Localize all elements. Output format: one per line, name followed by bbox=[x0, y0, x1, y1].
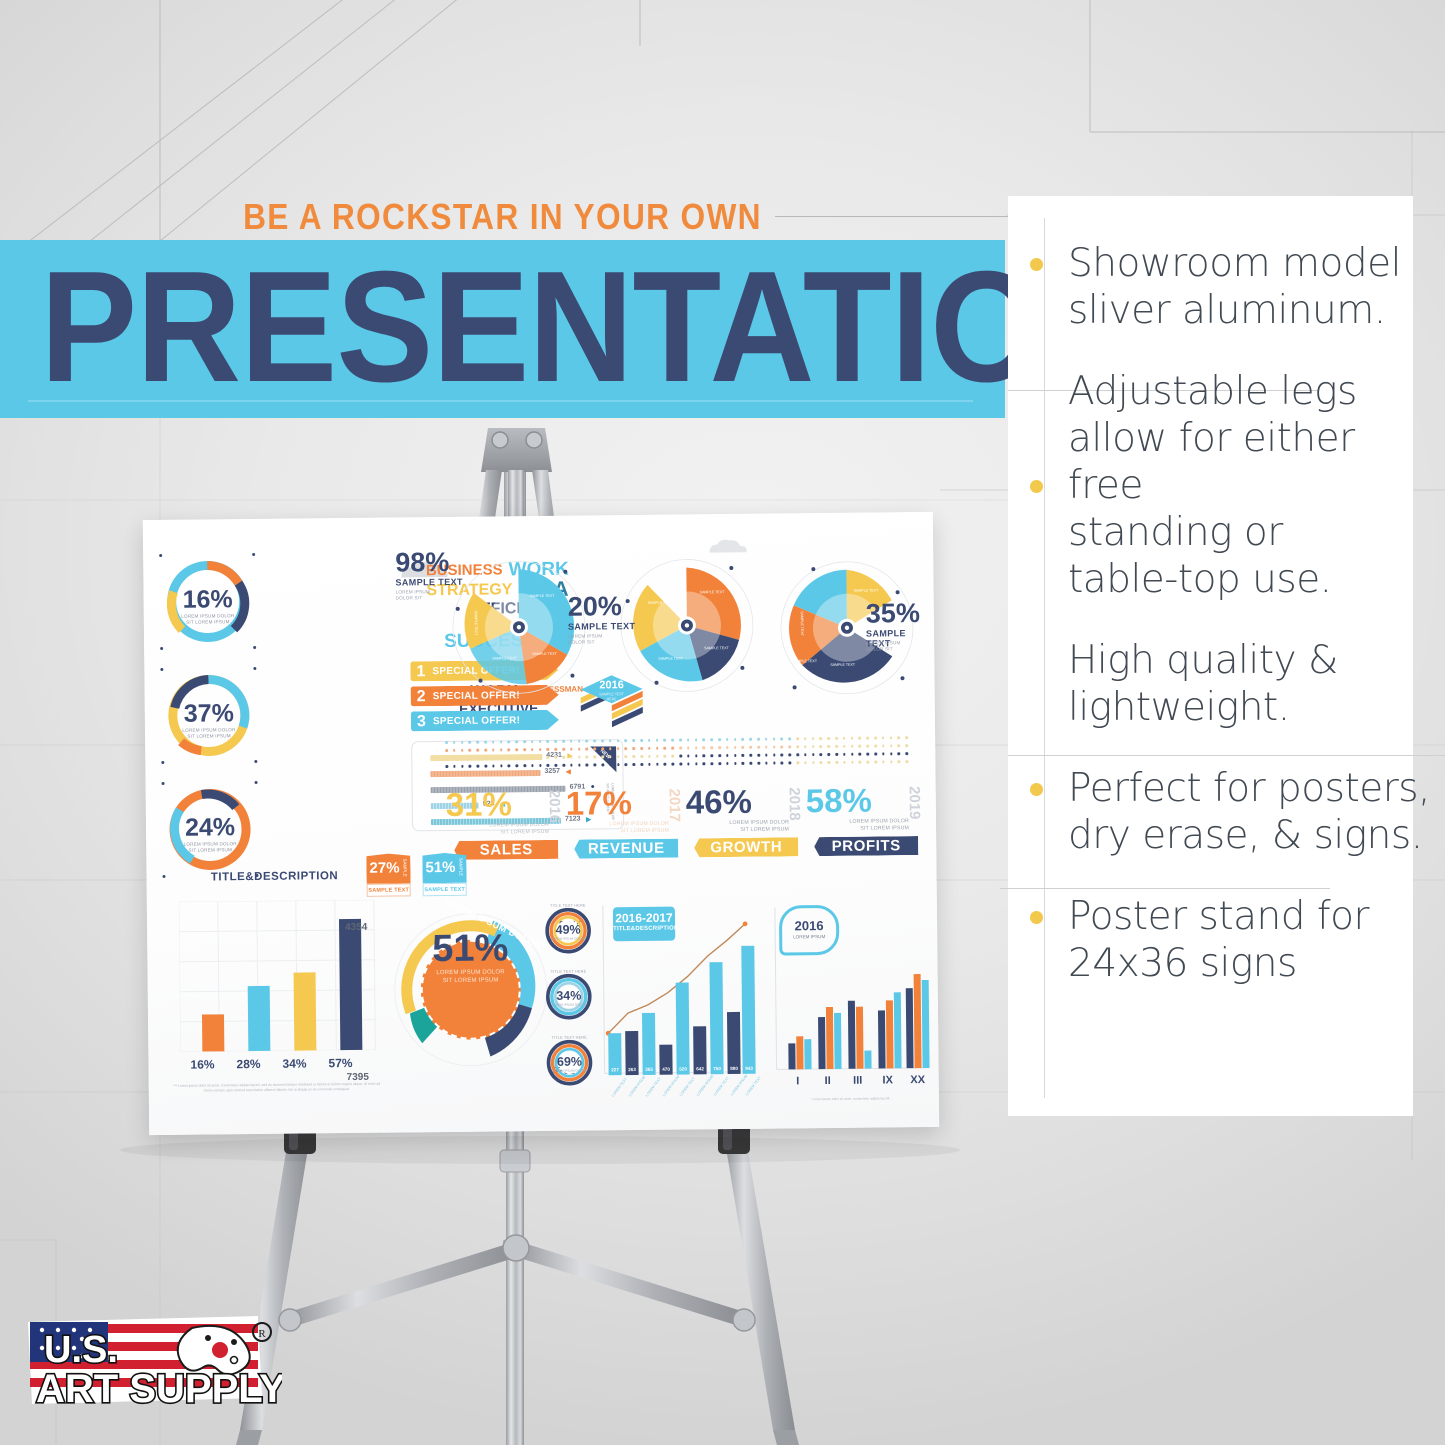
bar bbox=[796, 1036, 803, 1069]
kpi-sales: 31% 2016 LOREM IPSUM DOLOR SIT LOREM IPS… bbox=[446, 788, 572, 860]
kpi-tag: SALES bbox=[480, 841, 533, 859]
kpi-tag: PROFITS bbox=[832, 837, 901, 855]
badge-sub: LOREM IPSUM DOLOR bbox=[546, 1002, 592, 1006]
bubble-sub: LOREM IPSUM bbox=[782, 934, 836, 940]
column-chart-title-description: TITLE&DESCRIPTION 16% 28% bbox=[164, 870, 386, 1102]
badge-value: 69% bbox=[546, 1054, 592, 1068]
badge-foot: SAMPLE TEXT bbox=[367, 883, 411, 896]
bar: 520 bbox=[676, 982, 690, 1074]
year-callout: 2016-2017 TITLE&DESCRIPTION bbox=[613, 907, 675, 942]
x-tick-label: III bbox=[845, 1075, 871, 1087]
pie-value: 35% bbox=[866, 600, 920, 627]
donut-value: 16% bbox=[159, 585, 255, 615]
pie-slice-label: SAMPLE TEXT bbox=[700, 590, 725, 594]
offer-number: 2 bbox=[417, 688, 426, 706]
badge-value: 34% bbox=[546, 988, 592, 1002]
badge-foot: SAMPLE TEXT bbox=[423, 883, 467, 896]
chart-title: TITLE&DESCRIPTION bbox=[164, 870, 384, 884]
kpi-value: 31% bbox=[446, 785, 512, 823]
x-tick-label: I bbox=[785, 1075, 811, 1087]
pie-slice-label: SAMPLE TEXT bbox=[704, 646, 729, 650]
pie-sub: LOREM IPSUM DOLOR SIT bbox=[568, 633, 602, 645]
infographic-poster: 16% LOREM IPSUM DOLOR SIT LOREM IPSUM 37… bbox=[143, 512, 939, 1135]
kpi-revenue: 17% 2017 LOREM IPSUM DOLOR SIT LOREM IPS… bbox=[566, 786, 692, 858]
badge-value: 51% bbox=[425, 859, 455, 876]
radial-pie-2: 20% SAMPLE TEXT LOREM IPSUM DOLOR SIT SA… bbox=[611, 550, 763, 702]
donut-value: 37% bbox=[161, 699, 257, 729]
bar bbox=[878, 1010, 886, 1068]
bar bbox=[906, 988, 914, 1068]
offer-number: 3 bbox=[417, 713, 426, 731]
pie-slice-label: SAMPLE TEXT bbox=[474, 611, 478, 636]
donut-chart-1: 16% LOREM IPSUM DOLOR SIT LOREM IPSUM bbox=[159, 553, 256, 650]
kpi-year: 2017 bbox=[666, 789, 683, 823]
product-marketing-image: BE A ROCKSTAR IN YOUR OWN PRESENTATION S… bbox=[0, 0, 1445, 1445]
offer-label: SPECIAL OFFER! bbox=[433, 715, 520, 727]
kpi-tag: GROWTH bbox=[710, 838, 782, 856]
bar bbox=[848, 1001, 856, 1069]
pie-slice-label: SAMPLE TEXT bbox=[530, 594, 555, 598]
offer-number: 1 bbox=[416, 663, 425, 681]
kpi-caption: LOREM IPSUM DOLOR SIT LOREM IPSUM bbox=[446, 822, 571, 837]
callout-year: 2016-2017 bbox=[613, 911, 675, 926]
donut-value: 24% bbox=[162, 813, 258, 843]
donut-label-bottom-left: 7395 bbox=[347, 1072, 369, 1083]
badge-side-text: SAMPLE bbox=[402, 858, 407, 876]
x-tick-label: 57% bbox=[328, 1056, 352, 1070]
x-tick-label: XX bbox=[905, 1074, 931, 1086]
bar bbox=[922, 980, 930, 1068]
grouped-bar-chart: 2016 LOREM IPSUM I II III IX bbox=[767, 900, 929, 1100]
bar bbox=[856, 1007, 864, 1069]
logo-line-2: ART SUPPLY bbox=[36, 1367, 282, 1411]
kpi-tag: REVENUE bbox=[588, 840, 665, 858]
pie-slice-label: SAMPLE TEXT bbox=[658, 657, 683, 661]
kpi-profits: 58% 2019 LOREM IPSUM DOLOR SIT LOREM IPS… bbox=[806, 784, 932, 856]
badge-27: 27% SAMPLE SAMPLE TEXT bbox=[366, 853, 410, 896]
bar: 943 bbox=[741, 946, 755, 1074]
badge-value: 27% bbox=[369, 859, 399, 876]
bar bbox=[804, 1039, 811, 1069]
pie-sub: LOREM IPSUM DOLOR SIT bbox=[396, 589, 430, 601]
x-tick-label: II bbox=[815, 1075, 841, 1087]
poster-canvas: 16% LOREM IPSUM DOLOR SIT LOREM IPSUM 37… bbox=[143, 512, 939, 1135]
bar bbox=[248, 986, 271, 1051]
logo-line-1: U.S. bbox=[44, 1329, 118, 1371]
bar bbox=[339, 919, 362, 1050]
pie-title: SAMPLE TEXT bbox=[568, 621, 636, 632]
chart-footnote: * Lorem ipsum dolor sit amet, consectetu… bbox=[775, 1096, 925, 1102]
chart-footnote: *** Lorem ipsum dolor sit amet, consecte… bbox=[171, 1082, 383, 1093]
bar bbox=[202, 1014, 224, 1051]
donut-caption: LOREM IPSUM DOLOR SIT LOREM IPSUM bbox=[162, 841, 258, 854]
bar: 642 bbox=[693, 1026, 707, 1074]
year-bubble: 2016 LOREM IPSUM bbox=[779, 905, 840, 956]
pie-sub: LOREM IPSUM DOLOR SIT bbox=[866, 640, 900, 652]
radial-pie-3: 35% SAMPLE TEXT LOREM IPSUM DOLOR SIT SA… bbox=[771, 552, 923, 704]
donut-caption: LOREM IPSUM DOLOR SIT LOREM IPSUM bbox=[161, 727, 257, 740]
bar: 750 bbox=[709, 962, 723, 1074]
bar bbox=[914, 974, 922, 1068]
kpi-year: 2016 bbox=[546, 790, 563, 824]
callout-sub: TITLE&DESCRIPTION bbox=[613, 926, 675, 933]
x-tick-label: 16% bbox=[190, 1057, 214, 1071]
bar: 365 bbox=[642, 1013, 656, 1075]
us-art-supply-logo: R U.S. ART SUPPLY bbox=[22, 1306, 282, 1426]
bar: 880 bbox=[727, 1012, 741, 1074]
bar bbox=[894, 992, 902, 1068]
badge-side-text: SAMPLE bbox=[458, 858, 463, 876]
bubble-year: 2016 bbox=[782, 918, 836, 934]
kpi-caption: LOREM IPSUM DOLOR SIT LOREM IPSUM bbox=[566, 820, 691, 835]
x-tick-label: 34% bbox=[282, 1056, 306, 1070]
pie-slice-label: SAMPLE TEXT bbox=[854, 588, 879, 592]
bar bbox=[818, 1017, 826, 1069]
circle-badge-49: TITLE TEXT HERE 49% LOREM IPSUM DOLOR bbox=[545, 903, 592, 953]
pie-slice-label: SAMPLE TEXT bbox=[830, 663, 855, 667]
kpi-year: 2018 bbox=[786, 787, 803, 821]
kpi-value: 46% bbox=[686, 783, 752, 821]
kpi-caption: LOREM IPSUM DOLOR SIT LOREM IPSUM bbox=[686, 819, 811, 834]
badge-value: 49% bbox=[545, 922, 591, 936]
badge-sub: LOREM IPSUM DOLOR bbox=[547, 1068, 593, 1072]
combo-bar-line-chart: 227 263 365 470 520 642 750 880 943 2016… bbox=[595, 900, 757, 1102]
pie-slice-label: SAMPLE TEXT bbox=[532, 652, 557, 656]
bar bbox=[886, 1000, 894, 1068]
badge-51: 51% SAMPLE SAMPLE TEXT bbox=[422, 853, 466, 896]
special-offer-row: 3 SPECIAL OFFER! bbox=[411, 710, 559, 732]
pie-slice-label: SAMPLE TEXT bbox=[792, 659, 817, 663]
bar bbox=[826, 1007, 834, 1069]
kpi-value: 58% bbox=[806, 782, 872, 820]
bar: 470 bbox=[659, 1045, 672, 1075]
kpi-value: 17% bbox=[566, 784, 632, 822]
big-donut-sub: LOREM IPSUM DOLOR SIT LOREM IPSUM bbox=[386, 968, 556, 986]
kpi-growth: 46% 2018 LOREM IPSUM DOLOR SIT LOREM IPS… bbox=[686, 785, 812, 857]
pie-value: 20% bbox=[568, 593, 622, 620]
donut-label-top-left: 4354 bbox=[345, 922, 367, 933]
bar bbox=[834, 1013, 842, 1069]
donut-chart-2: 37% LOREM IPSUM DOLOR SIT LOREM IPSUM bbox=[160, 667, 257, 764]
bar bbox=[788, 1043, 795, 1069]
bar: 263 bbox=[625, 1031, 638, 1075]
bar bbox=[294, 972, 317, 1050]
pie-slice-label: SAMPLE TEXT bbox=[648, 601, 673, 605]
x-tick-label: IX bbox=[875, 1074, 901, 1086]
pie-title: SAMPLE TEXT bbox=[395, 577, 463, 588]
kpi-year: 2019 bbox=[906, 786, 923, 820]
donut-chart-3: 24% LOREM IPSUM DOLOR SIT LOREM IPSUM bbox=[162, 781, 259, 878]
bar bbox=[864, 1051, 871, 1069]
badge-sub: LOREM IPSUM DOLOR bbox=[545, 936, 591, 940]
pie-slice-label: SAMPLE TEXT bbox=[492, 656, 517, 660]
pie-slice-label: SAMPLE TEXT bbox=[800, 611, 804, 636]
bar: 227 bbox=[608, 1033, 621, 1075]
dot-pattern-strip bbox=[445, 734, 915, 773]
svg-text:R: R bbox=[258, 1328, 266, 1340]
circle-badge-34: TITLE TEXT HERE 34% LOREM IPSUM DOLOR bbox=[546, 969, 593, 1019]
big-donut-chart: 51% LOREM IPSUM DOLOR SIT LOREM IPSUM LO… bbox=[385, 904, 557, 1076]
circle-badge-69: TITLE TEXT HERE 69% LOREM IPSUM DOLOR bbox=[546, 1035, 593, 1085]
chart-x-labels: 16% 28% 34% 57% bbox=[180, 1056, 376, 1058]
donut-caption: LOREM IPSUM DOLOR SIT LOREM IPSUM bbox=[160, 613, 256, 626]
kpi-caption: LOREM IPSUM DOLOR SIT LOREM IPSUM bbox=[806, 818, 931, 833]
pie-value: 98% bbox=[395, 549, 449, 576]
x-tick-label: 28% bbox=[236, 1057, 260, 1071]
